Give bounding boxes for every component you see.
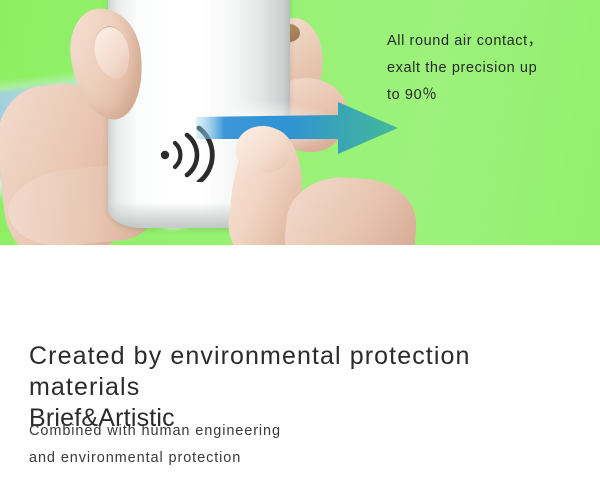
hero-caption-text: All round air contact， exalt the precisi… (387, 28, 587, 109)
subtext-line-1: Combined with human engineering (29, 423, 281, 439)
subtext-line-2: and environmental protection (29, 445, 459, 472)
right-arrow-icon (196, 98, 398, 158)
product-feature-page: All round air contact， exalt the precisi… (0, 0, 600, 491)
hero-banner: All round air contact， exalt the precisi… (0, 0, 600, 245)
headline-line-1: Created by environmental protection mate… (29, 342, 471, 401)
page-subtext: Combined with human engineering and envi… (29, 418, 459, 472)
device-gloss-highlight (155, 0, 191, 228)
